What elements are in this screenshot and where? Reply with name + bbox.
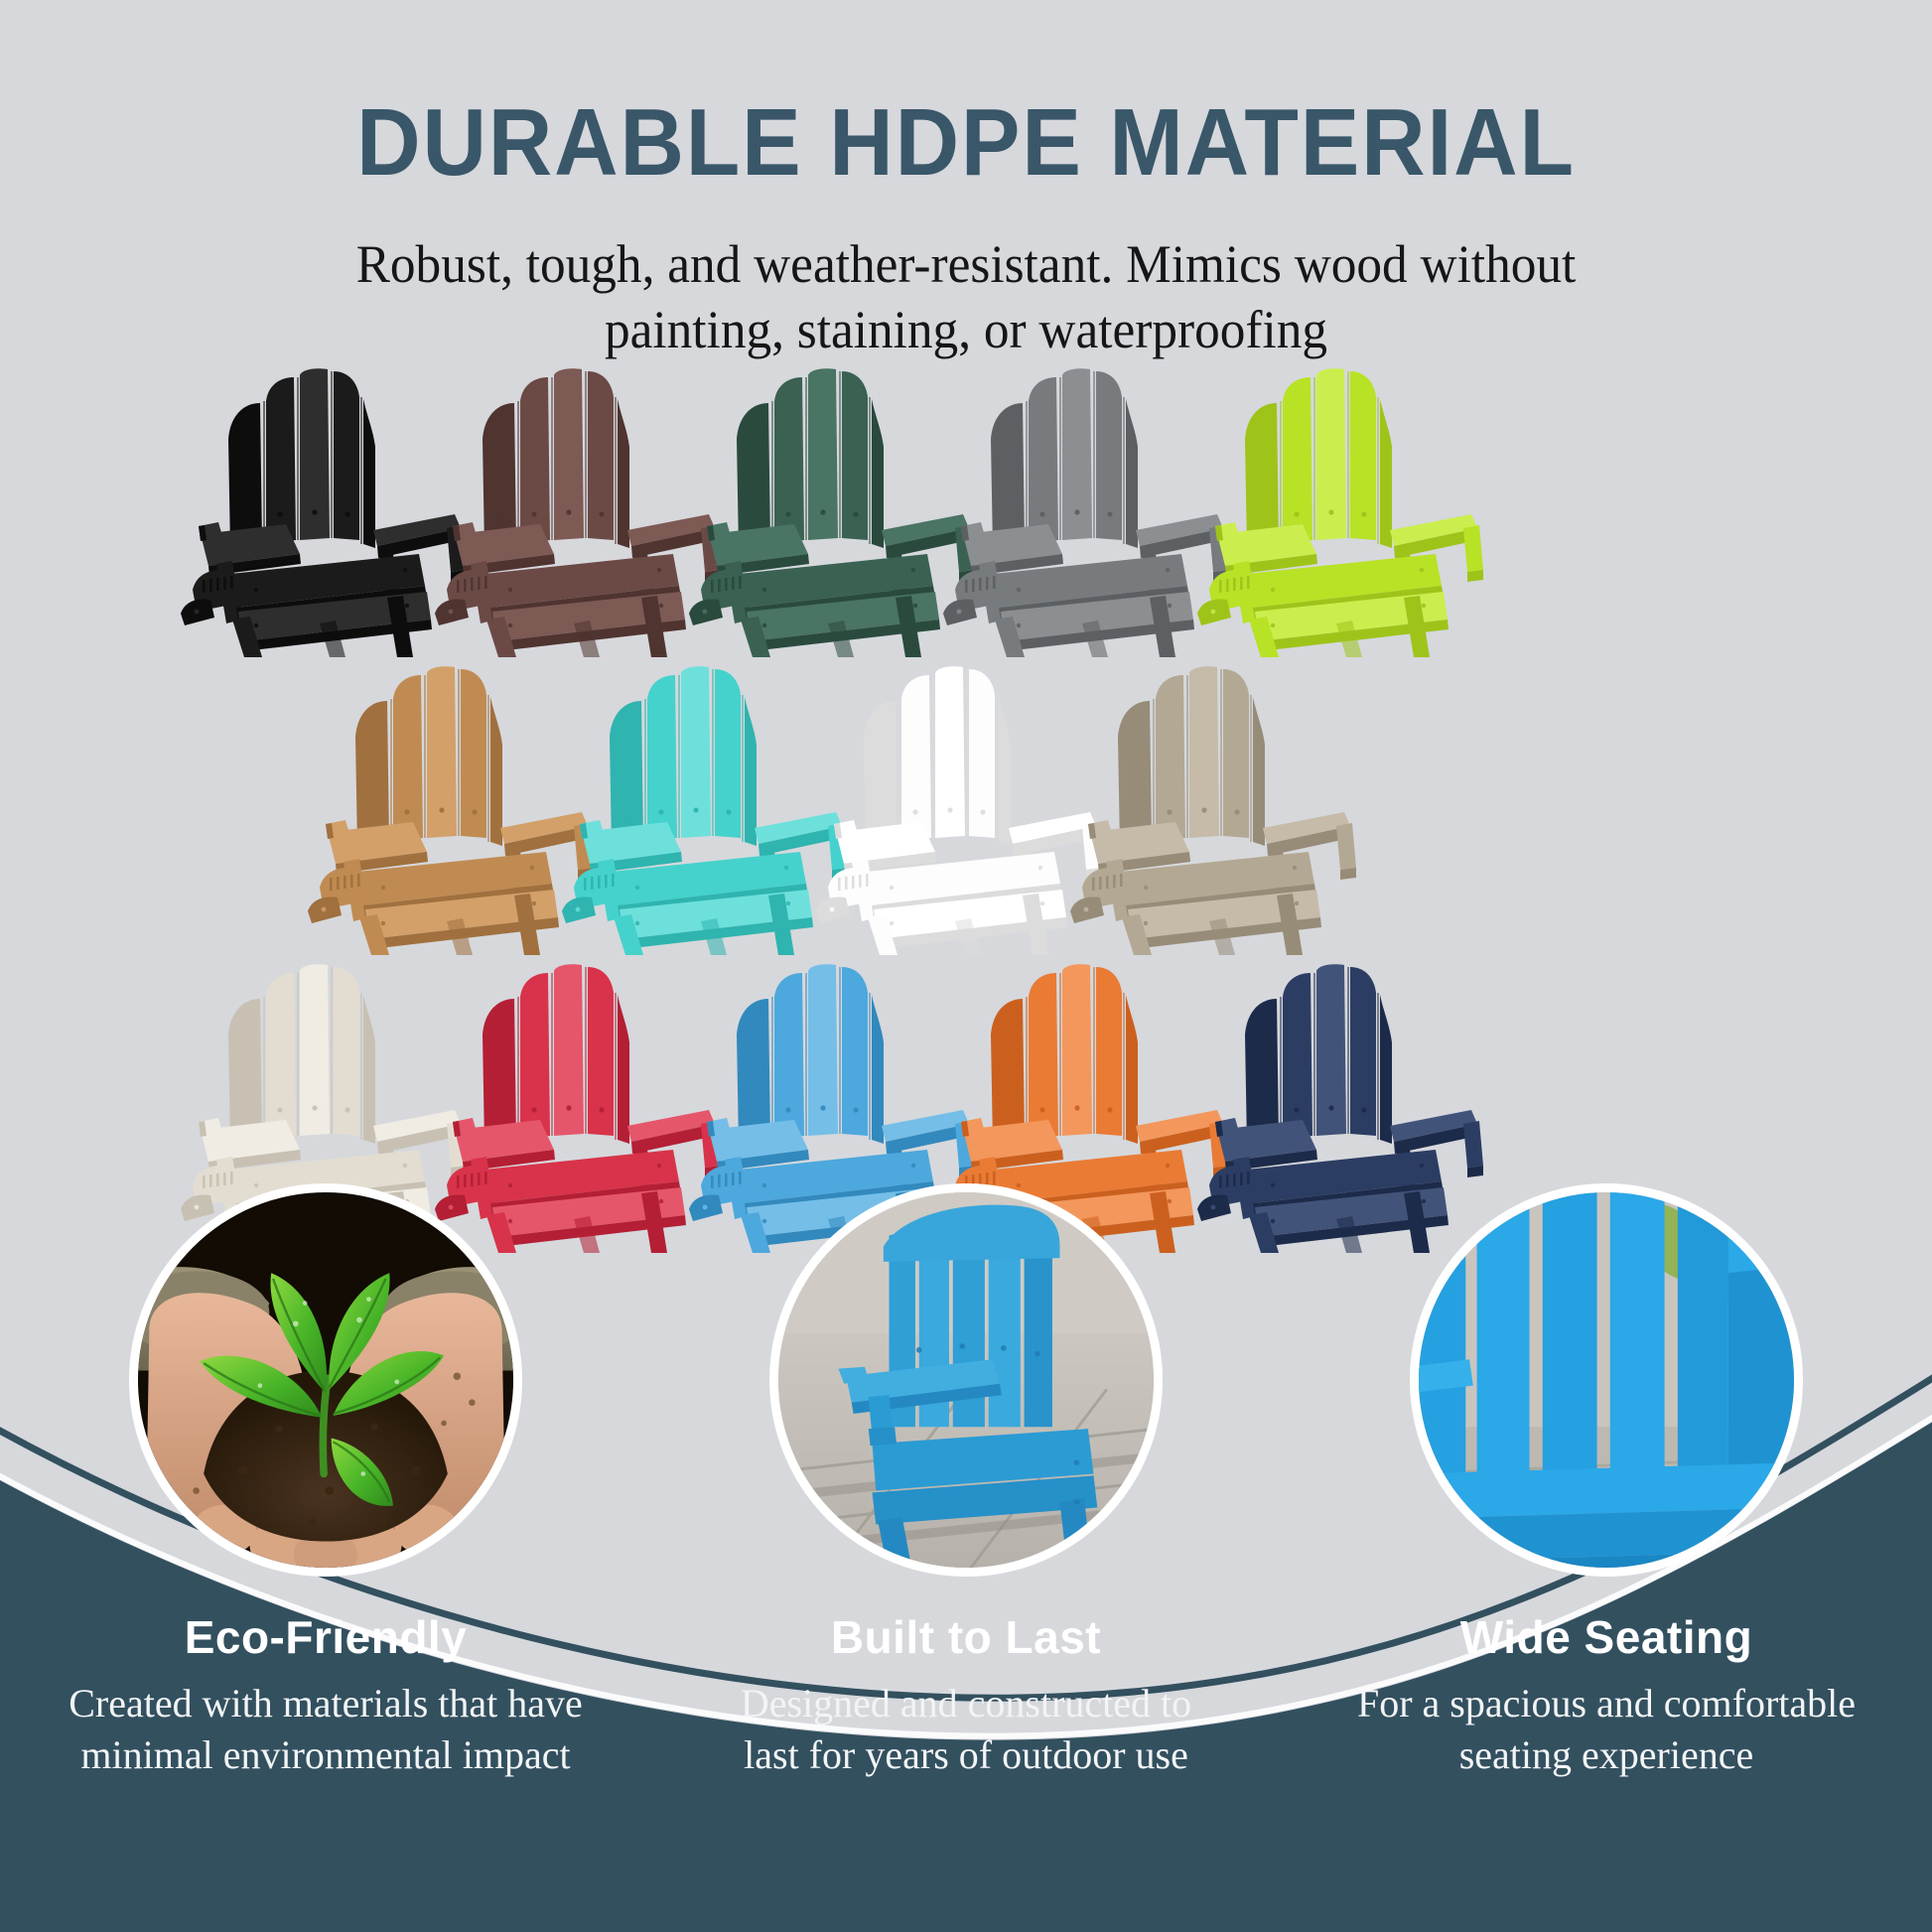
feature-description: Designed and constructed to last for yea… <box>658 1678 1274 1781</box>
chair-illustration-white <box>806 667 1104 955</box>
chair-illustration-lime-green <box>1187 369 1485 657</box>
feature-desc-line-2: minimal environmental impact <box>32 1729 620 1781</box>
chair-swatch-gray[interactable] <box>933 369 1231 657</box>
chair-swatch-black[interactable] <box>171 369 469 657</box>
chair-illustration-driftwood <box>1060 667 1358 955</box>
subtitle-line-2: painting, staining, or waterproofing <box>49 298 1884 363</box>
feature-desc-line-1: For a spacious and comfortable <box>1312 1678 1900 1729</box>
feature-description: For a spacious and comfortable seating e… <box>1299 1678 1914 1781</box>
feature-eco-friendly: Eco-Friendly Created with materials that… <box>18 1183 633 1781</box>
chair-swatch-turquoise[interactable] <box>552 667 850 955</box>
page-subtitle: Robust, tough, and weather-resistant. Mi… <box>49 232 1884 363</box>
feature-title: Eco-Friendly <box>18 1610 633 1664</box>
chair-illustration-gray <box>933 369 1231 657</box>
infographic-page: DURABLE HDPE MATERIAL Robust, tough, and… <box>0 0 1932 1932</box>
chair-swatch-white[interactable] <box>806 667 1104 955</box>
chair-illustration-black <box>171 369 469 657</box>
subtitle-line-1: Robust, tough, and weather-resistant. Mi… <box>49 232 1884 298</box>
feature-desc-line-1: Designed and constructed to <box>672 1678 1260 1729</box>
feature-image-eco-friendly <box>129 1183 522 1577</box>
feature-wide-seating: Wide Seating For a spacious and comforta… <box>1299 1183 1914 1781</box>
feature-built-to-last: Built to Last Designed and constructed t… <box>658 1183 1274 1781</box>
chair-illustration-dark-green <box>679 369 977 657</box>
chair-illustration-teak <box>298 667 596 955</box>
page-title: DURABLE HDPE MATERIAL <box>68 95 1864 191</box>
chair-swatch-driftwood[interactable] <box>1060 667 1358 955</box>
chair-swatch-lime-green[interactable] <box>1187 369 1485 657</box>
feature-description: Created with materials that have minimal… <box>18 1678 633 1781</box>
feature-image-wide-seating <box>1410 1183 1803 1577</box>
feature-desc-line-1: Created with materials that have <box>32 1678 620 1729</box>
feature-desc-line-2: seating experience <box>1312 1729 1900 1781</box>
header: DURABLE HDPE MATERIAL Robust, tough, and… <box>0 0 1932 363</box>
feature-image-built-to-last <box>769 1183 1163 1577</box>
feature-title: Wide Seating <box>1299 1610 1914 1664</box>
chair-swatch-dark-green[interactable] <box>679 369 977 657</box>
chair-illustration-brown <box>425 369 723 657</box>
chair-color-grid <box>0 369 1932 1243</box>
feature-title: Built to Last <box>658 1610 1274 1664</box>
chair-swatch-brown[interactable] <box>425 369 723 657</box>
chair-swatch-teak[interactable] <box>298 667 596 955</box>
chair-illustration-turquoise <box>552 667 850 955</box>
feature-desc-line-2: last for years of outdoor use <box>672 1729 1260 1781</box>
